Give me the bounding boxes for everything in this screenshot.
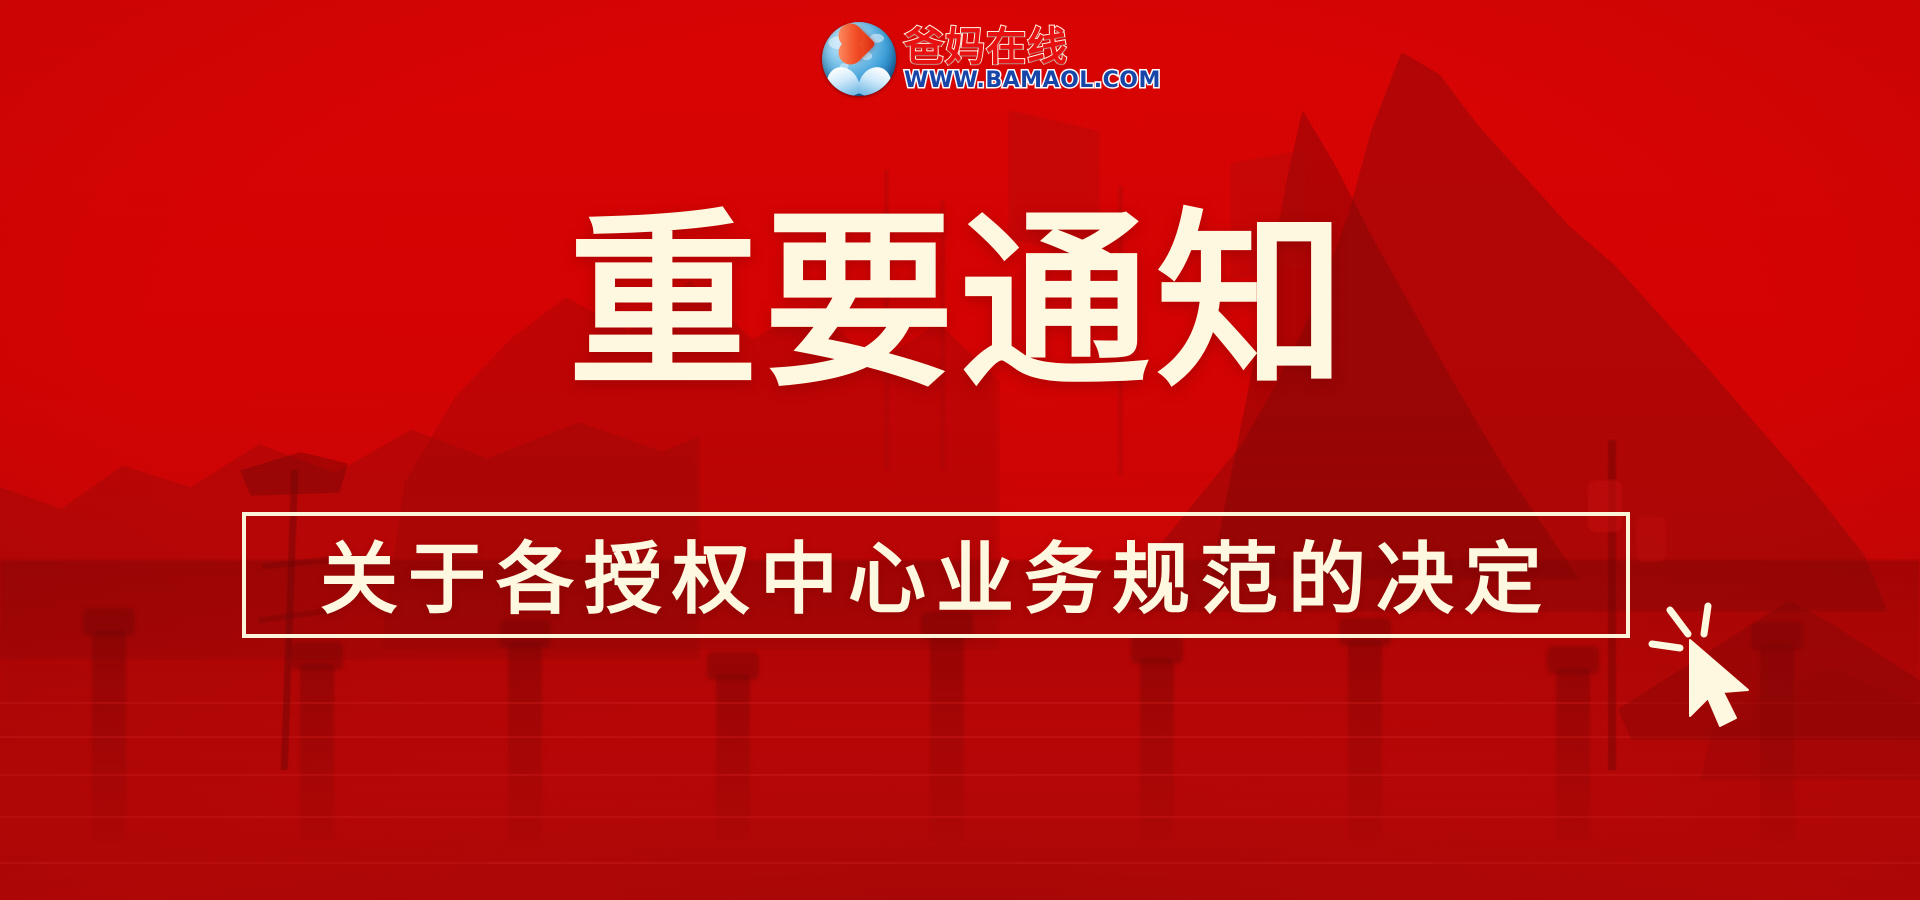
lantern [1636,516,1666,562]
background-vignette [0,0,1920,900]
carved-pillar [1348,640,1382,840]
notice-banner: 爸妈在线 WWW.BAMAOL.COM 重要通知 关于各授权中心业务规范的决定 [0,0,1920,900]
site-logo[interactable]: 爸妈在线 WWW.BAMAOL.COM [822,20,1161,98]
background-base [0,0,1920,900]
subtitle-frame: 关于各授权中心业务规范的决定 [242,512,1630,638]
globe-heart-hands-icon [822,22,896,96]
subtitle-text: 关于各授权中心业务规范的决定 [320,517,1552,629]
carved-pillar [1140,658,1174,840]
main-title: 重要通知 [0,208,1920,398]
brand-website: WWW.BAMAOL.COM [904,70,1161,92]
carved-pillar [930,634,964,840]
background-texture [0,0,1920,900]
mouse-pointer-click-cursor-icon [1648,600,1768,730]
carved-pillar [716,674,750,840]
carved-pillar [300,664,334,840]
lamp-post-head [240,452,348,496]
stone-steps [0,690,1920,900]
hands-icon [826,65,892,96]
carved-pillar [508,642,542,840]
brand-name: 爸妈在线 [904,27,1161,67]
carved-pillar [92,630,126,840]
background-scene [0,0,1920,900]
carved-pillar [1556,668,1590,840]
logo-text-block: 爸妈在线 WWW.BAMAOL.COM [904,27,1161,92]
